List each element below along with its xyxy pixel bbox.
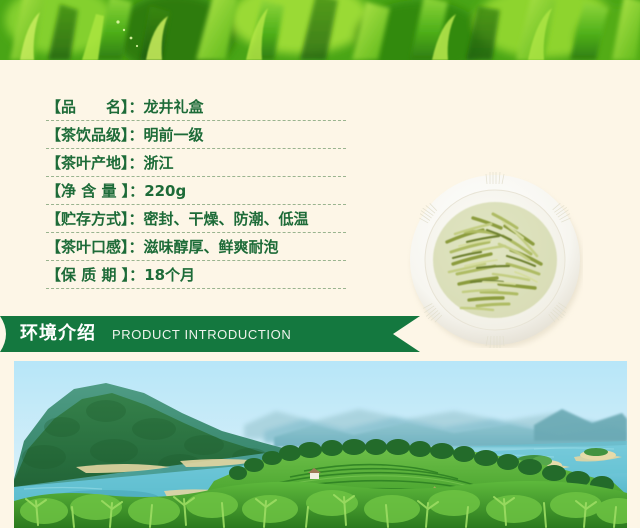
spec-label: 【保 质 期 】 [46,266,129,284]
spec-label: 【茶叶产地】 [46,154,129,172]
spec-value: 220g [144,182,186,200]
spec-row: 【茶叶产地】：浙江 [46,150,346,177]
spec-value: 密封、干燥、防潮、低温 [144,210,309,228]
spec-row: 【净 含 量 】：220g [46,178,346,205]
spec-row: 【保 质 期 】：18个月 [46,262,346,289]
plantation-landscape-graphic [14,361,627,528]
spec-row: 【品 名】：龙井礼盒 [46,94,346,121]
spec-row: 【茶叶口感】：滋味醇厚、鲜爽耐泡 [46,234,346,261]
spec-separator: ： [129,210,144,228]
spec-value: 18个月 [144,266,195,284]
spec-label: 【茶叶口感】 [46,238,129,256]
spec-value: 龙井礼盒 [144,98,204,116]
spec-label: 【贮存方式】 [46,210,129,228]
tea-plate-graphic [407,172,583,348]
header-leaf-graphic [0,0,640,60]
section-subtitle: PRODUCT INTRODUCTION [112,316,291,352]
spec-separator: ： [129,238,144,256]
plantation-landscape-image [14,361,627,528]
spec-separator: ： [129,98,144,116]
spec-separator: ： [129,154,144,172]
spec-list: 【品 名】：龙井礼盒 【茶饮品级】：明前一级 【茶叶产地】：浙江 【净 含 量 … [46,94,346,290]
section-ribbon: 环境介绍 PRODUCT INTRODUCTION [0,316,420,352]
spec-label: 【茶饮品级】 [46,126,129,144]
spec-separator: ： [129,182,144,200]
spec-row: 【茶饮品级】：明前一级 [46,122,346,149]
header-leaf-image [0,0,640,60]
tea-plate-image [407,172,583,348]
spec-value: 浙江 [144,154,174,172]
spec-label: 【品 名】 [46,98,129,116]
section-title: 环境介绍 [20,316,96,352]
spec-label: 【净 含 量 】 [46,182,129,200]
spec-row: 【贮存方式】：密封、干燥、防潮、低温 [46,206,346,233]
spec-separator: ： [129,266,144,284]
spec-value: 滋味醇厚、鲜爽耐泡 [144,238,279,256]
product-spec-panel: 【品 名】：龙井礼盒 【茶饮品级】：明前一级 【茶叶产地】：浙江 【净 含 量 … [0,60,640,310]
spec-value: 明前一级 [144,126,204,144]
spec-separator: ： [129,126,144,144]
